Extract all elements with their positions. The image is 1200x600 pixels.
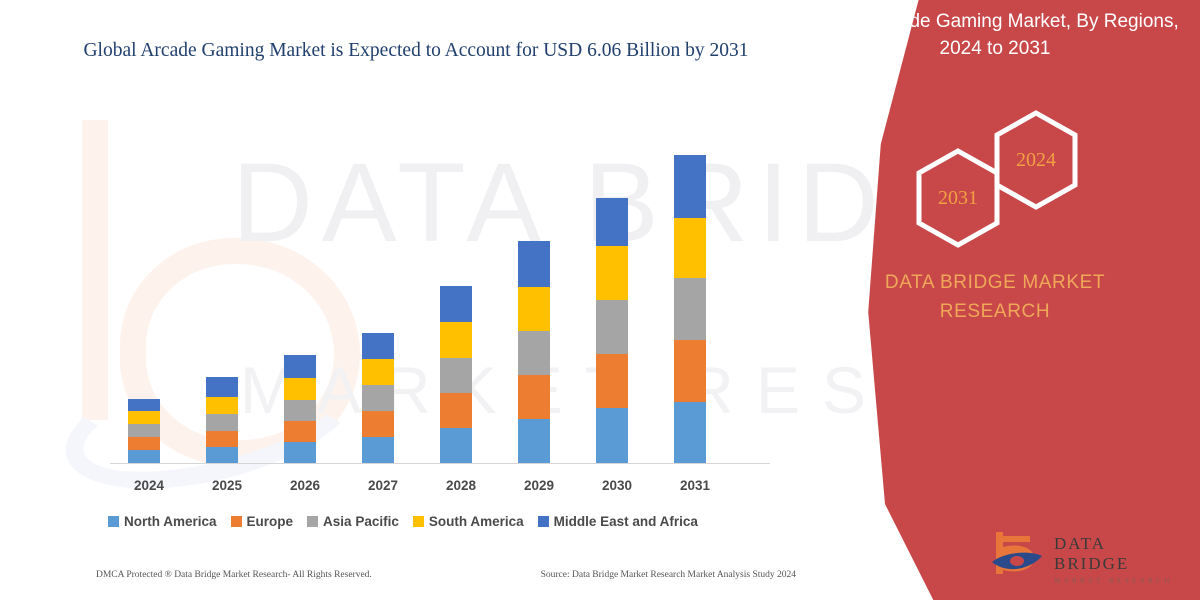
legend-swatch-icon (413, 516, 424, 527)
segment-asia-pacific (206, 414, 238, 431)
segment-asia-pacific (440, 358, 472, 393)
segment-europe (674, 340, 706, 402)
footer-copyright: DMCA Protected ® Data Bridge Market Rese… (96, 570, 372, 580)
segment-middle-east-and-africa (674, 155, 706, 218)
segment-middle-east-and-africa (362, 333, 394, 359)
x-axis-labels: 20242025202620272028202920302031 (110, 478, 770, 502)
segment-north-america (596, 408, 628, 463)
segment-asia-pacific (284, 400, 316, 421)
bar-2029 (518, 241, 550, 463)
segment-asia-pacific (674, 278, 706, 340)
segment-asia-pacific (518, 331, 550, 375)
legend-item-europe[interactable]: Europe (231, 514, 294, 529)
segment-europe (518, 375, 550, 419)
legend-swatch-icon (108, 516, 119, 527)
bar-2027 (362, 333, 394, 463)
legend-label: Middle East and Africa (554, 514, 698, 529)
x-label-2027: 2027 (344, 478, 422, 493)
segment-north-america (518, 419, 550, 463)
segment-asia-pacific (596, 300, 628, 354)
legend-label: Asia Pacific (323, 514, 399, 529)
segment-middle-east-and-africa (206, 377, 238, 397)
legend-swatch-icon (231, 516, 242, 527)
segment-europe (596, 354, 628, 408)
brand-line-1: DATA BRIDGE MARKET (810, 268, 1180, 297)
bar-2030 (596, 198, 628, 463)
hexagon-label-end: 2031 (912, 146, 1004, 250)
segment-europe (128, 437, 160, 450)
bar-2025 (206, 377, 238, 463)
x-label-2030: 2030 (578, 478, 656, 493)
segment-south-america (362, 359, 394, 385)
brand-panel: Global Arcade Gaming Market, By Regions,… (780, 0, 1200, 600)
logo-sub-text: MARKET RESEARCH (1054, 577, 1180, 585)
bar-2024 (128, 399, 160, 463)
segment-south-america (596, 246, 628, 300)
data-bridge-b-mark-icon (990, 530, 1048, 578)
x-label-2025: 2025 (188, 478, 266, 493)
segment-north-america (128, 450, 160, 463)
segment-middle-east-and-africa (284, 355, 316, 378)
segment-south-america (518, 287, 550, 331)
segment-south-america (206, 397, 238, 414)
legend-swatch-icon (538, 516, 549, 527)
segment-south-america (674, 218, 706, 278)
segment-europe (206, 431, 238, 447)
segment-south-america (284, 378, 316, 400)
logo-main-text: DATA BRIDGE (1054, 534, 1180, 574)
brand-name: DATA BRIDGE MARKET RESEARCH (810, 268, 1180, 326)
segment-middle-east-and-africa (518, 241, 550, 287)
segment-south-america (440, 322, 472, 358)
segment-north-america (674, 402, 706, 463)
segment-asia-pacific (128, 424, 160, 437)
x-label-2028: 2028 (422, 478, 500, 493)
segment-north-america (284, 442, 316, 463)
x-label-2026: 2026 (266, 478, 344, 493)
x-axis-line (110, 463, 770, 464)
legend-item-asia-pacific[interactable]: Asia Pacific (307, 514, 399, 529)
company-logo: DATA BRIDGE MARKET RESEARCH (990, 528, 1180, 582)
segment-middle-east-and-africa (440, 286, 472, 322)
bar-2026 (284, 355, 316, 463)
legend-item-south-america[interactable]: South America (413, 514, 524, 529)
infographic-canvas: DATA BRIDGE MARKET RESEARCH Global Arcad… (0, 0, 1200, 600)
legend-item-north-america[interactable]: North America (108, 514, 217, 529)
stacked-bar-chart: 20242025202620272028202920302031 (0, 0, 800, 600)
brand-line-2: RESEARCH (810, 297, 1180, 326)
segment-north-america (362, 437, 394, 463)
legend-item-middle-east-and-africa[interactable]: Middle East and Africa (538, 514, 698, 529)
footer: DMCA Protected ® Data Bridge Market Rese… (96, 570, 796, 580)
x-label-2031: 2031 (656, 478, 734, 493)
segment-middle-east-and-africa (128, 399, 160, 411)
segment-asia-pacific (362, 385, 394, 411)
segment-europe (284, 421, 316, 442)
hexagon-badges: 2024 2031 (892, 108, 1102, 223)
legend-label: Europe (247, 514, 294, 529)
segment-middle-east-and-africa (596, 198, 628, 246)
legend-swatch-icon (307, 516, 318, 527)
hexagon-badge-2031: 2031 (912, 146, 1004, 250)
bar-2031 (674, 155, 706, 463)
x-label-2024: 2024 (110, 478, 188, 493)
segment-north-america (440, 428, 472, 463)
legend-label: North America (124, 514, 217, 529)
x-label-2029: 2029 (500, 478, 578, 493)
chart-legend: North AmericaEuropeAsia PacificSouth Ame… (108, 514, 698, 529)
legend-label: South America (429, 514, 524, 529)
footer-source: Source: Data Bridge Market Research Mark… (541, 570, 796, 580)
segment-north-america (206, 447, 238, 463)
segment-europe (362, 411, 394, 437)
panel-title: Global Arcade Gaming Market, By Regions,… (810, 8, 1180, 62)
segment-europe (440, 393, 472, 428)
segment-south-america (128, 411, 160, 424)
bar-2028 (440, 286, 472, 463)
